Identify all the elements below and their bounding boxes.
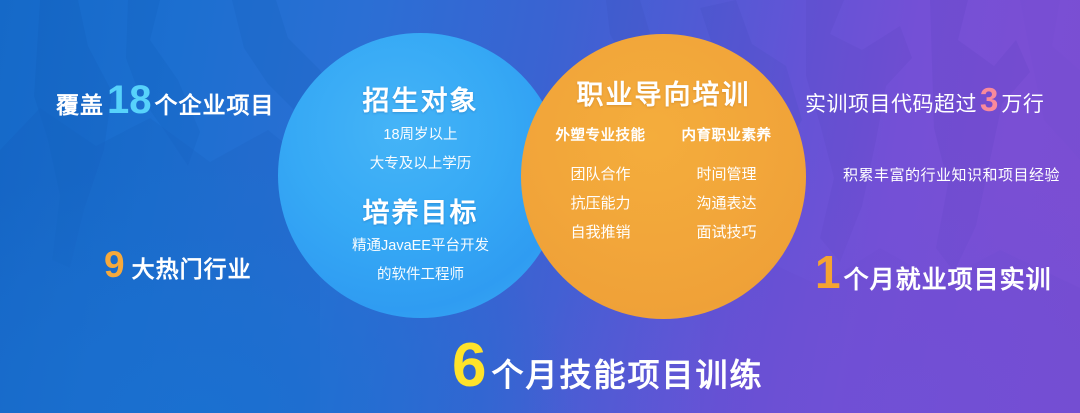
stat-code-lines: 实训项目代码超过 3 万行	[805, 83, 1044, 118]
stat-training-suffix: 个月技能项目训练	[491, 350, 763, 396]
orange-heading: 职业导向培训	[521, 73, 806, 112]
stat-internship-suffix: 个月就业项目实训	[844, 260, 1052, 296]
stat-internship: 1 个月就业项目实训	[815, 249, 1052, 296]
orange-column-qualities: 内育职业素养 时间管理 沟通表达 面试技巧	[675, 124, 779, 247]
orange-column-qualities-item: 时间管理	[675, 160, 779, 189]
stat-experience: 积累丰富的行业知识和项目经验	[843, 164, 1060, 185]
stat-industries-suffix: 大热门行业	[132, 250, 252, 284]
stat-coverage-prefix: 覆盖	[56, 86, 104, 120]
orange-column-skills: 外塑专业技能 团队合作 抗压能力 自我推销	[549, 124, 653, 247]
stat-code-lines-suffix: 万行	[1001, 88, 1044, 118]
stat-industries: 9 大热门行业	[104, 246, 252, 284]
stat-coverage-number: 18	[107, 80, 152, 120]
orange-circle-content: 职业导向培训 外塑专业技能 团队合作 抗压能力 自我推销 内育职业素养 时间管理…	[521, 34, 806, 247]
orange-column-skills-item: 团队合作	[549, 160, 653, 189]
orange-column-qualities-item: 面试技巧	[675, 218, 779, 247]
infographic-banner: 覆盖 18 个企业项目 9 大热门行业 实训项目代码超过 3 万行 积累丰富的行…	[0, 0, 1080, 413]
stat-internship-number: 1	[815, 249, 841, 295]
blue-sub-2-line-2: 的软件工程师	[278, 264, 563, 287]
stat-industries-number: 9	[104, 246, 125, 283]
orange-column-skills-head: 外塑专业技能	[549, 124, 653, 145]
orange-column-skills-item: 自我推销	[549, 218, 653, 247]
stat-training-number: 6	[452, 335, 486, 397]
stat-coverage: 覆盖 18 个企业项目	[56, 80, 275, 120]
stat-code-lines-prefix: 实训项目代码超过	[805, 88, 977, 118]
orange-columns: 外塑专业技能 团队合作 抗压能力 自我推销 内育职业素养 时间管理 沟通表达 面…	[521, 124, 806, 247]
stat-training: 6 个月技能项目训练	[452, 335, 764, 397]
orange-column-skills-item: 抗压能力	[549, 189, 653, 218]
orange-column-qualities-head: 内育职业素养	[675, 124, 779, 145]
stat-code-lines-number: 3	[980, 83, 998, 116]
orange-column-qualities-item: 沟通表达	[675, 189, 779, 218]
stat-coverage-suffix: 个企业项目	[155, 86, 275, 120]
